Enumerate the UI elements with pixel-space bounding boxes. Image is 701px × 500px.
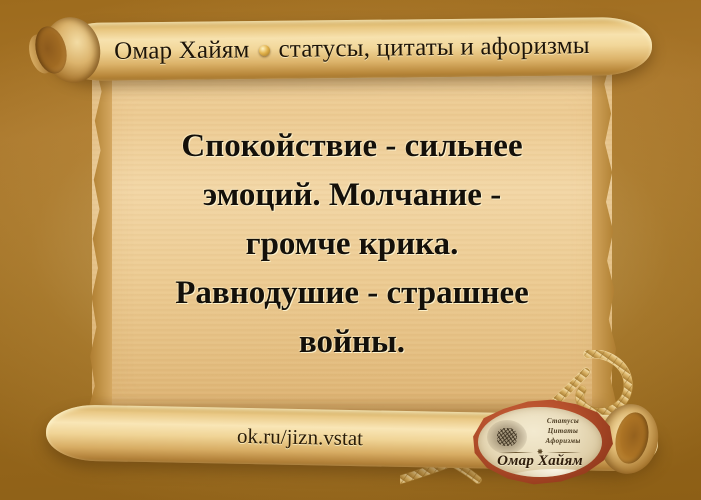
seal-subtitle-lines: Статусы Цитаты Афоризмы — [530, 416, 596, 446]
quote-line: Спокойствие - сильнее — [96, 122, 608, 171]
seal-line-1: Статусы — [530, 416, 596, 426]
quote-poster: Омар Хайям статусы, цитаты и афоризмы Сп… — [0, 0, 701, 500]
header-title: Омар Хайям статусы, цитаты и афоризмы — [52, 16, 653, 81]
header-author: Омар Хайям — [114, 36, 250, 66]
header-subtitle: статусы, цитаты и афоризмы — [278, 32, 590, 64]
seal-line-3: Афоризмы — [530, 436, 596, 446]
seal-face: Статусы Цитаты Афоризмы ✵ Омар Хайям — [478, 407, 602, 477]
quote-text: Спокойствие - сильнее эмоций. Молчание -… — [96, 122, 608, 367]
seal-author-name: Омар Хайям — [482, 453, 598, 470]
quote-line: Равнодушие - страшнее — [96, 269, 608, 318]
quote-line: эмоций. Молчание - — [96, 171, 608, 220]
quote-line: громче крика. — [96, 220, 608, 269]
diamond-dot-icon — [258, 45, 269, 56]
seal-line-2: Цитаты — [530, 426, 596, 436]
wax-seal: Статусы Цитаты Афоризмы ✵ Омар Хайям — [464, 396, 616, 488]
